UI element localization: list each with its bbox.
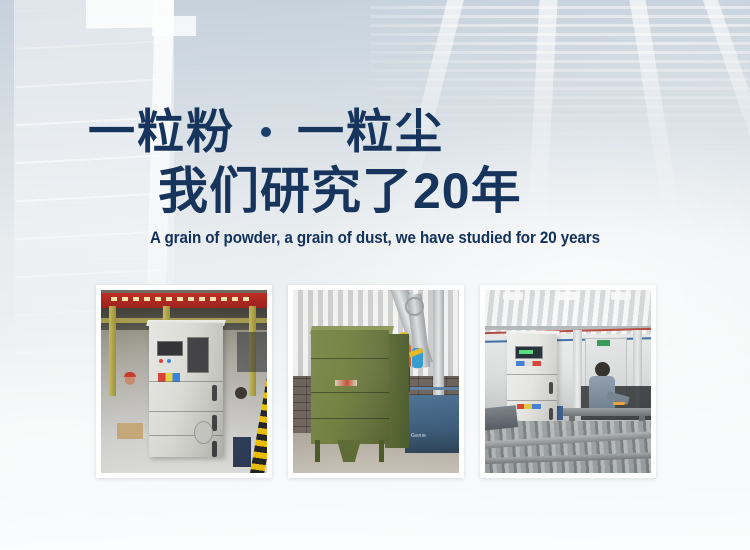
photo2-lift-rail — [405, 387, 459, 413]
photo3-skylight — [557, 292, 577, 300]
photo-grey-dust-collector-factory — [101, 290, 267, 473]
photo1-door-handle — [212, 441, 217, 457]
photo1-crate — [117, 423, 143, 439]
photo3-panel-seam — [507, 400, 557, 401]
photo3-label-sticker — [517, 404, 541, 409]
photo1-worker-head — [235, 387, 247, 399]
photo1-control-box — [187, 337, 209, 373]
photo3-skylight — [503, 292, 523, 300]
photo2-unit-leg — [379, 440, 384, 462]
photo1-worker-cap — [124, 372, 136, 377]
headline-phrase-dust: 一粒尘 — [297, 108, 444, 155]
photo1-indicator-led — [167, 359, 171, 363]
photo2-green-dust-collector — [311, 330, 389, 444]
photo2-pillar — [433, 290, 444, 402]
photo2-unit-seam — [311, 418, 389, 419]
photo1-panel-seam — [149, 411, 223, 412]
photo3-worker-head — [595, 362, 610, 377]
photo2-duct-flange — [405, 297, 424, 316]
photo3-foreground-crate — [485, 405, 518, 431]
headline-line-2: 我们研究了20年 — [158, 166, 522, 216]
photo-gallery: Genie — [96, 285, 656, 478]
photo1-door-handle — [212, 415, 217, 431]
photo-grey-dust-collector-workshop — [485, 290, 651, 473]
photo1-indicator-led — [159, 359, 163, 363]
photo3-exit-sign — [597, 340, 610, 346]
photo-frame-2[interactable]: Genie — [288, 285, 464, 478]
photo3-metal-profiles — [485, 421, 651, 473]
promo-banner: 一粒粉 一粒尘 我们研究了20年 A grain of powder, a gr… — [0, 0, 750, 550]
photo1-inlet-port — [194, 421, 213, 444]
photo3-control-buttons — [516, 361, 541, 366]
photo2-unit-badge — [335, 380, 357, 386]
photo1-red-banner — [101, 293, 267, 308]
photo2-unit-seam — [311, 392, 389, 393]
photo1-door-handle — [212, 385, 217, 401]
photo3-workbench — [563, 408, 651, 416]
photo-frame-1[interactable] — [96, 285, 272, 478]
photo3-control-display — [515, 346, 543, 359]
photo2-unit-seam — [311, 358, 389, 359]
photo3-door-handle — [549, 382, 553, 394]
headline-subtitle-english: A grain of powder, a grain of dust, we h… — [30, 229, 720, 248]
photo3-panel-seam — [507, 374, 557, 375]
photo3-spark — [613, 402, 625, 405]
photo2-unit-leg — [315, 440, 320, 462]
photo-green-dust-collector-lift: Genie — [293, 290, 459, 473]
headline-phrase-powder: 一粒粉 — [88, 108, 235, 155]
photo1-dust-collector-cabinet — [149, 323, 223, 457]
photo1-worker-legs — [233, 437, 251, 467]
photo3-door-handle — [549, 408, 553, 420]
photo3-skylight — [611, 292, 631, 300]
headline-line-1: 一粒粉 一粒尘 — [88, 108, 444, 155]
photo1-control-display — [157, 341, 183, 356]
photo1-panel-seam — [149, 381, 223, 382]
photo2-lift-brand-label: Genie — [411, 433, 426, 439]
photo-frame-3[interactable] — [480, 285, 656, 478]
bullet-dot-icon — [261, 127, 271, 137]
photo1-dark-machine — [237, 332, 267, 372]
photo1-column — [109, 306, 116, 396]
